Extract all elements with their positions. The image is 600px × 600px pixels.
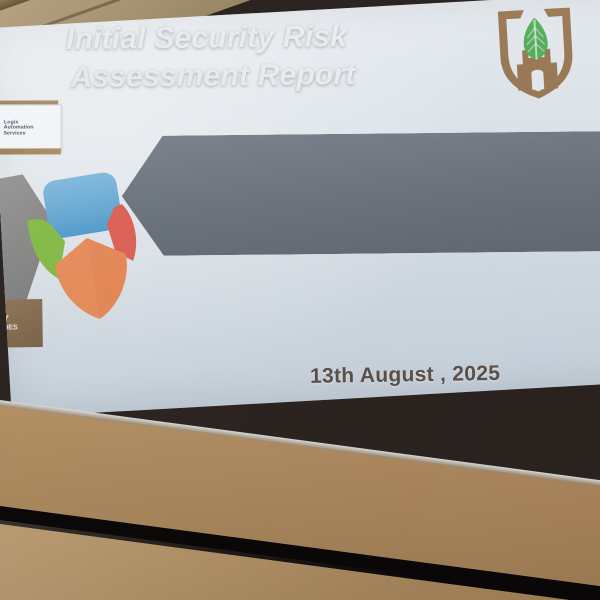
slide-title: Initial Security Risk Assessment Report xyxy=(66,15,600,98)
title-banner xyxy=(121,130,600,256)
logix-automation-services-logo: Logix Automation Services xyxy=(0,104,62,152)
badge-line-1: NY xyxy=(0,313,43,325)
slide-title-line-1: Initial Security Risk xyxy=(66,15,600,59)
partner-logo-text: Logix Automation Services xyxy=(3,120,34,136)
partial-brown-badge: NY 270ES xyxy=(0,299,43,348)
photo-scene: Logix Automation Services xyxy=(0,0,600,600)
partner-line-3: Services xyxy=(3,131,33,136)
slide-date: 13th August , 2025 xyxy=(310,362,501,389)
slide-title-line-2: Assessment Report xyxy=(70,53,600,97)
projection-screen: Logix Automation Services xyxy=(0,0,600,417)
card-bar-bottom xyxy=(0,148,61,154)
badge-line-2: 270ES xyxy=(0,324,43,333)
blocks-icon xyxy=(0,115,2,141)
